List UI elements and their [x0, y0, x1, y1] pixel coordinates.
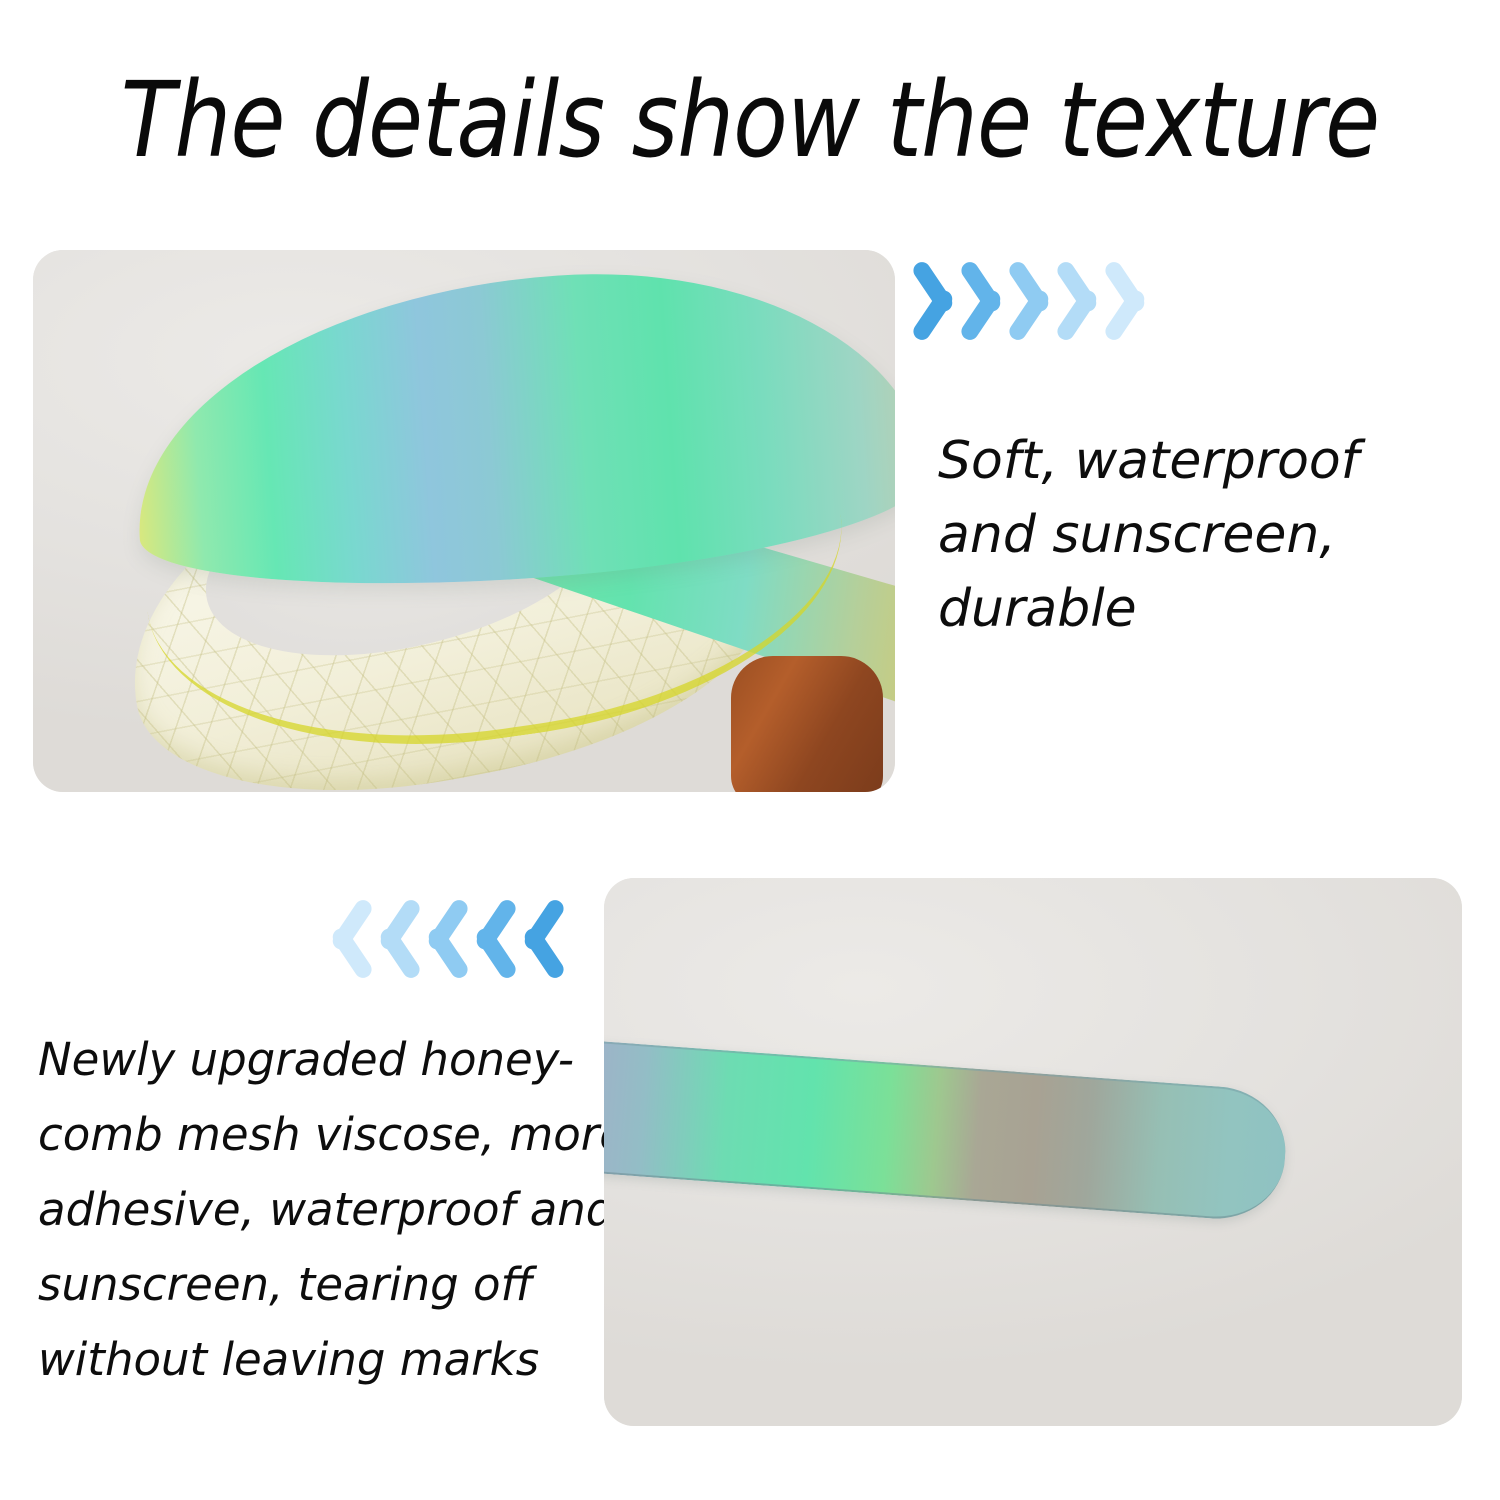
- chevron-right-icon: [366, 890, 410, 986]
- caption-line: without leaving marks: [38, 1322, 583, 1397]
- curled-holographic-tape-photo: [33, 250, 895, 792]
- chevron-right-icon: [318, 890, 362, 986]
- chevron-group-left: [930, 252, 1166, 348]
- wooden-prop: [731, 656, 883, 792]
- caption-line: sunscreen, tearing off: [38, 1247, 583, 1322]
- caption-line: Newly upgraded honey-: [38, 1022, 583, 1097]
- page-title: The details show the texture: [105, 56, 1395, 184]
- feature-caption-top: Soft, waterproof and sunscreen, durable: [938, 424, 1448, 646]
- chevron-right-icon: [414, 890, 458, 986]
- chevron-left-icon: [1122, 252, 1166, 348]
- caption-line: durable: [938, 572, 1448, 646]
- feature-caption-bottom: Newly upgraded honey- comb mesh viscose,…: [38, 1022, 583, 1397]
- caption-line: adhesive, waterproof and: [38, 1172, 583, 1247]
- chevron-group-right: [318, 890, 554, 986]
- holographic-strip-closeup-photo: [604, 878, 1462, 1426]
- chevron-right-icon: [510, 890, 554, 986]
- chevron-right-icon: [462, 890, 506, 986]
- caption-line: Soft, waterproof: [938, 424, 1448, 498]
- caption-line: comb mesh viscose, more: [38, 1097, 583, 1172]
- caption-line: and sunscreen,: [938, 498, 1448, 572]
